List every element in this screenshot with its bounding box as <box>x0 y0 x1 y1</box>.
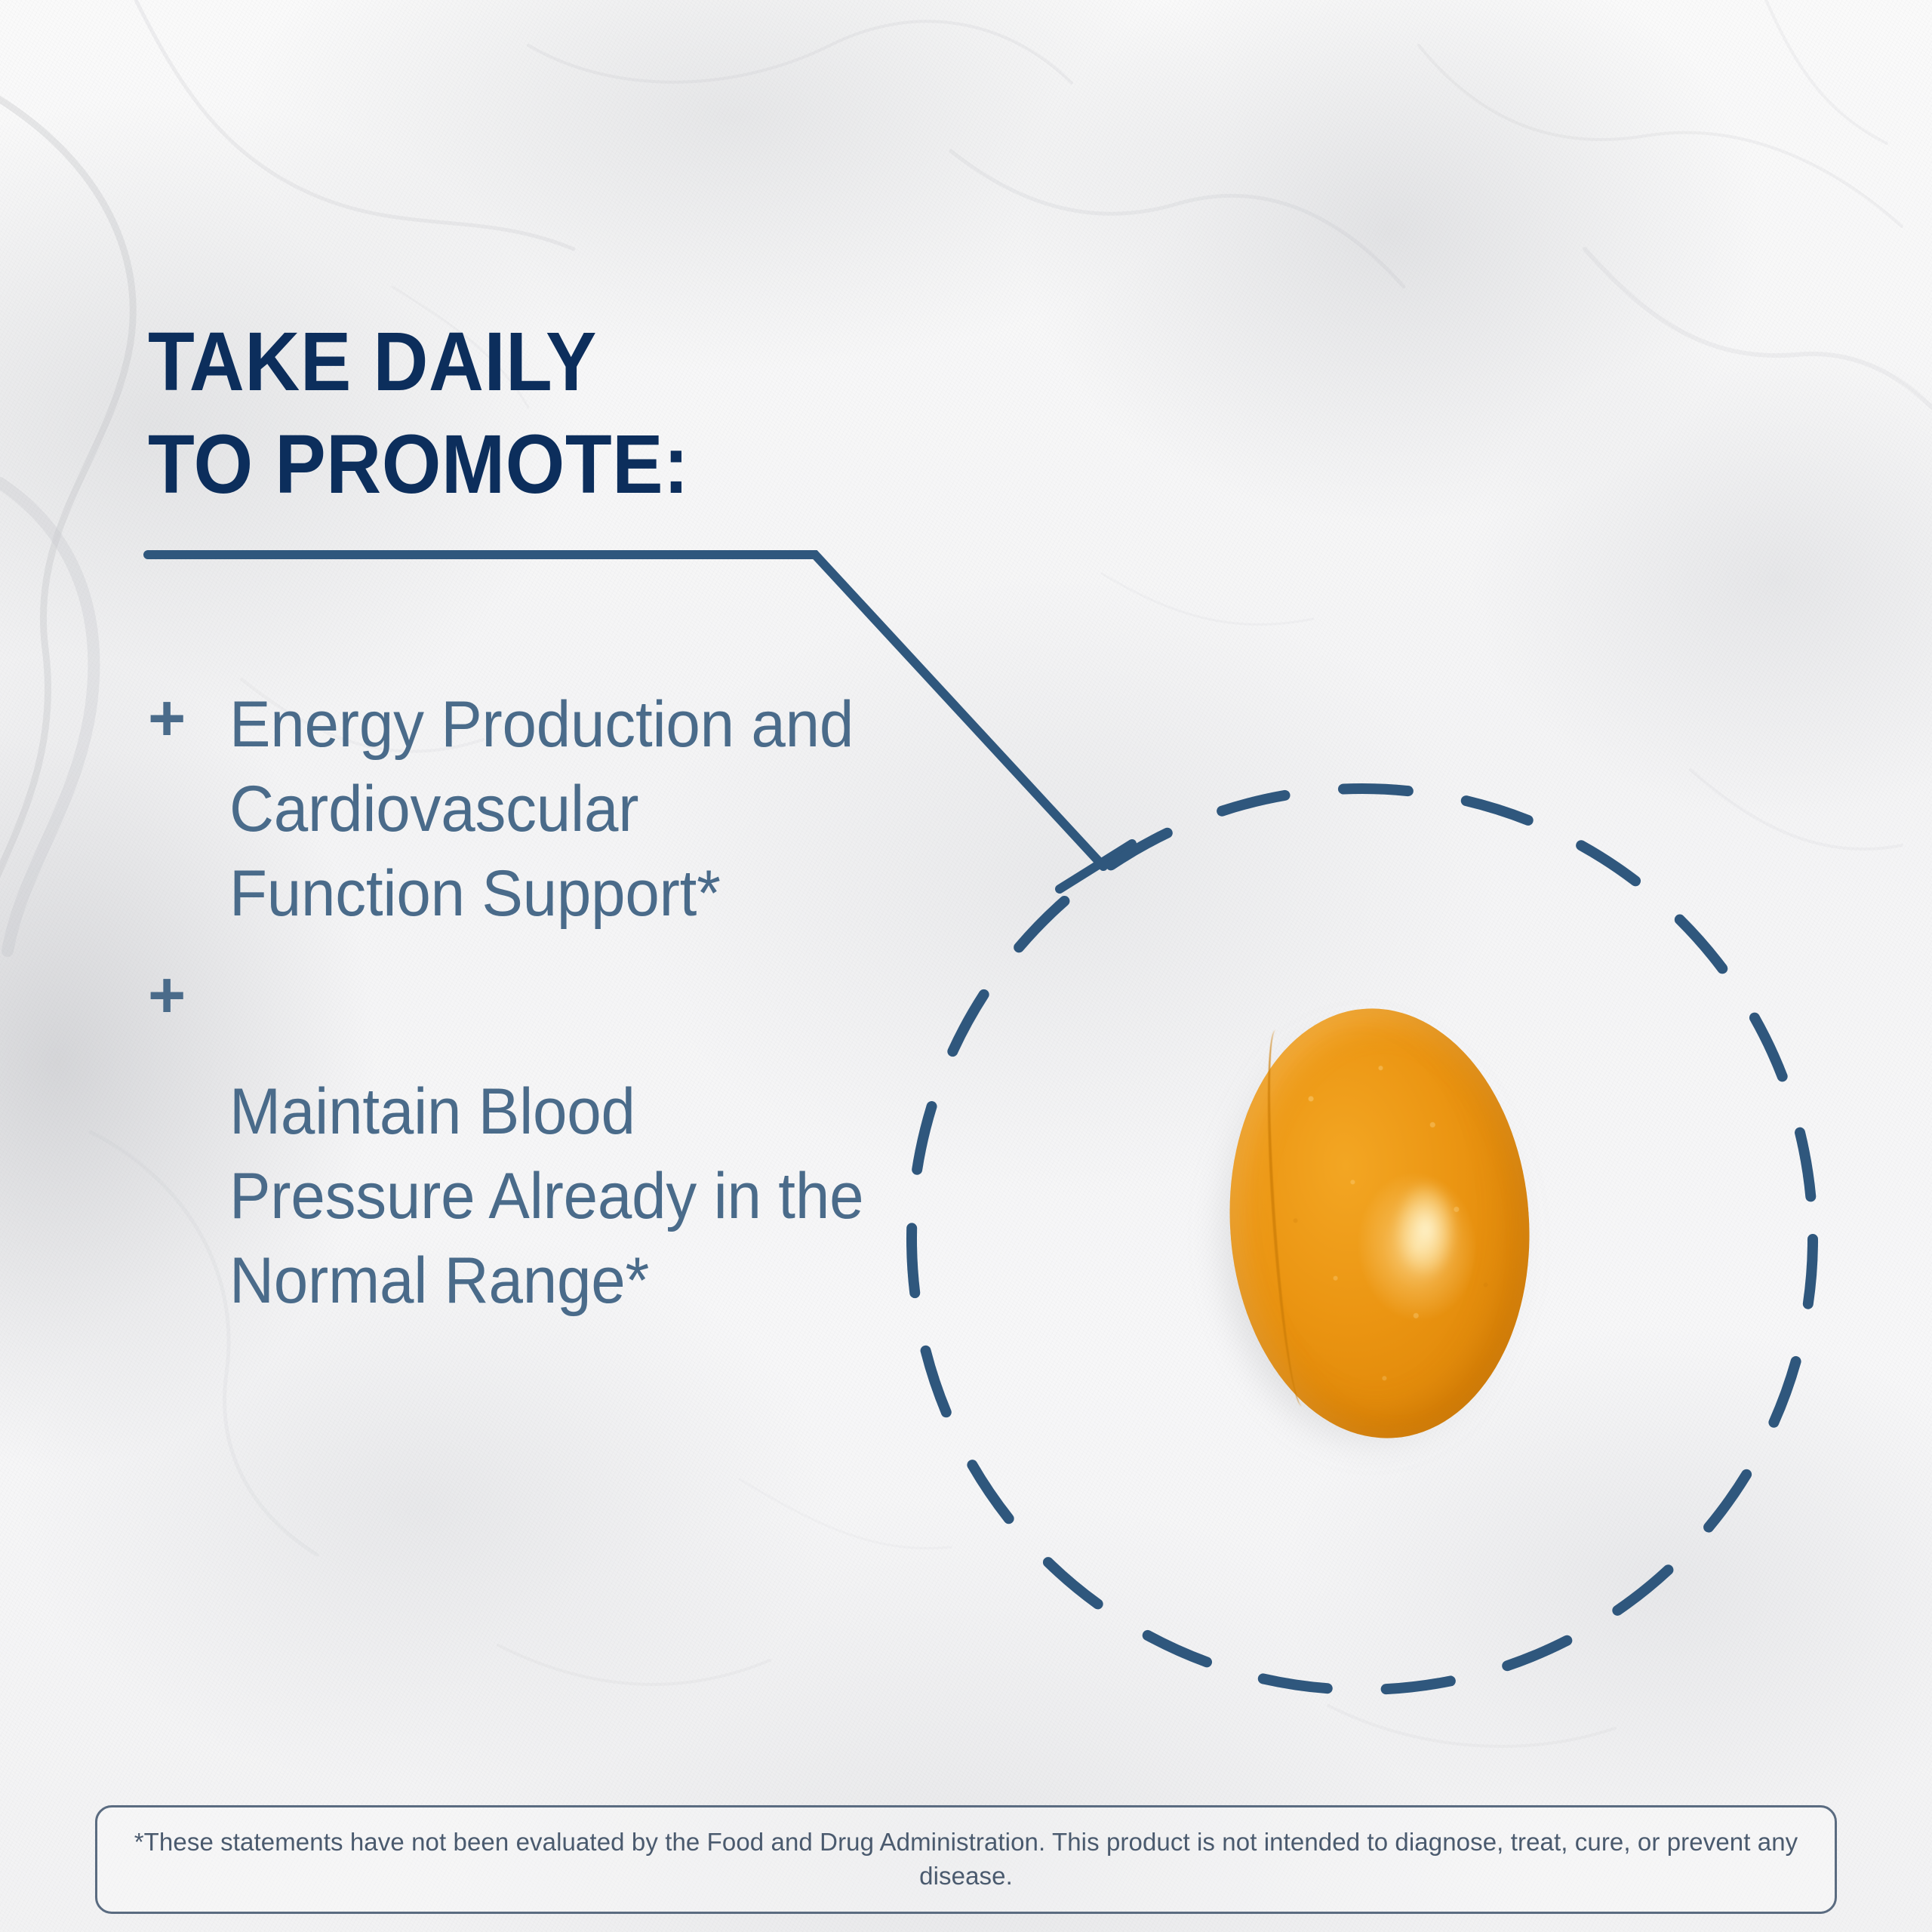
plus-icon: + <box>148 683 229 751</box>
benefit-label: Maintain Blood Pressure Already in the N… <box>229 1070 869 1323</box>
product-capsule <box>1217 996 1541 1449</box>
benefit-label: Energy Production and Cardiovascular Fun… <box>229 683 869 936</box>
disclaimer-text: *These statements have not been evaluate… <box>128 1826 1804 1893</box>
capsule-highlight <box>1395 1182 1457 1277</box>
benefit-item-energy: + Energy Production and Cardiovascular F… <box>148 683 903 936</box>
benefits-list: + Energy Production and Cardiovascular F… <box>148 683 903 1324</box>
disclaimer-box: *These statements have not been evaluate… <box>95 1805 1837 1914</box>
benefit-item-blood-pressure: + Maintain Blood Pressure Already in the… <box>148 963 903 1323</box>
plus-icon: + <box>148 963 903 1028</box>
page-title: TAKE DAILY TO PROMOTE: <box>148 311 912 517</box>
infographic-canvas: TAKE DAILY TO PROMOTE: + Energy Producti… <box>0 0 1932 1932</box>
